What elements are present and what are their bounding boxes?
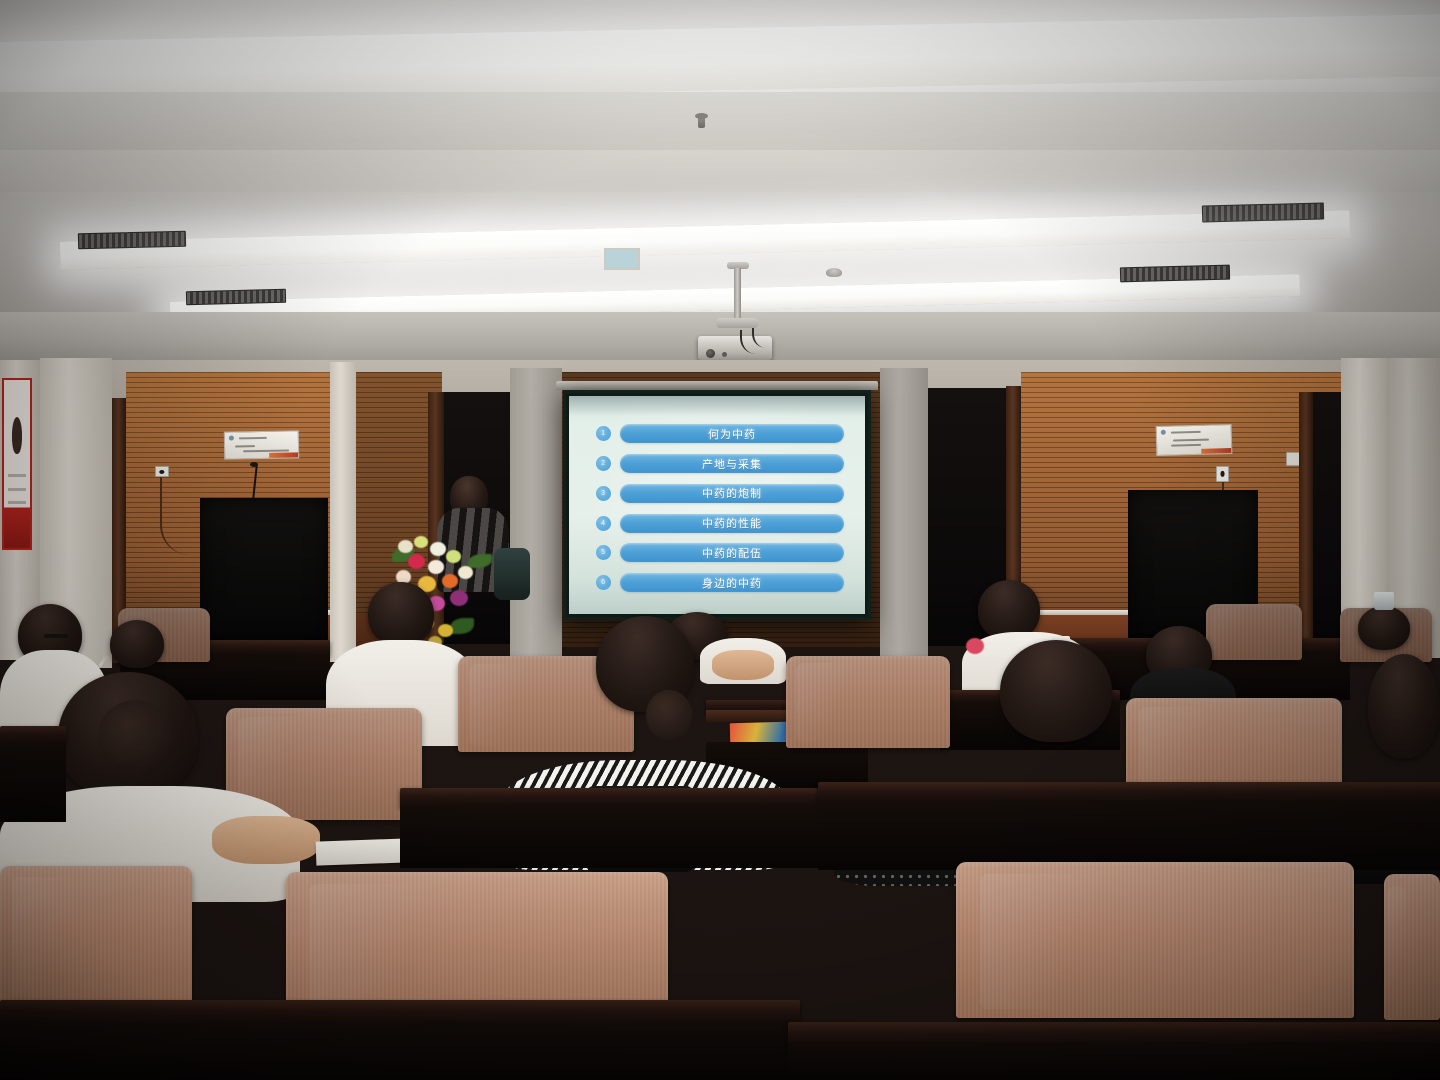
slide-item-label: 产地与采集 bbox=[620, 454, 845, 473]
audience-head-10 bbox=[1368, 654, 1440, 758]
audience-head-2 bbox=[110, 620, 164, 668]
projector-lens bbox=[706, 349, 715, 358]
slide-item: 5 中药的配伍 bbox=[596, 543, 845, 562]
power-cable-left bbox=[160, 477, 200, 555]
wall-outlet-right[interactable] bbox=[1216, 466, 1229, 482]
red-banner-poster bbox=[2, 378, 32, 550]
ceiling-speaker bbox=[826, 268, 842, 277]
slide-item-label: 身边的中药 bbox=[620, 573, 845, 592]
projector-bracket bbox=[716, 318, 758, 328]
projection-screen[interactable]: 1 何为中药 2 产地与采集 3 中药的炮制 4 中药的性能 5 中 bbox=[563, 390, 871, 620]
audience-arm-11 bbox=[212, 816, 320, 864]
desk-face-front-left bbox=[0, 1022, 800, 1080]
chair-row3-3[interactable] bbox=[786, 656, 950, 748]
slide-item-number: 6 bbox=[596, 575, 611, 590]
door-frame-right bbox=[1299, 392, 1313, 642]
chair-row1-3[interactable] bbox=[956, 862, 1354, 1018]
handout-paper[interactable] bbox=[316, 838, 409, 865]
slide-item-label: 中药的配伍 bbox=[620, 543, 845, 562]
chair-row1-4[interactable] bbox=[1384, 874, 1440, 1020]
wall-panel-left bbox=[200, 498, 328, 642]
slide-item: 3 中药的炮制 bbox=[596, 484, 845, 503]
notice-sign-right bbox=[1156, 424, 1233, 456]
slide-item-label: 何为中药 bbox=[620, 424, 845, 443]
desk-rail-row2-left bbox=[0, 726, 66, 746]
slide-item-number: 3 bbox=[596, 486, 611, 501]
slide-item-number: 5 bbox=[596, 545, 611, 560]
column-screen-left bbox=[510, 368, 562, 658]
audience-head-3 bbox=[368, 582, 434, 646]
ceiling-band-1 bbox=[0, 150, 1440, 192]
desk-face-front-right bbox=[788, 1042, 1440, 1080]
air-vent-right-2 bbox=[1120, 265, 1230, 283]
air-vent-left-2 bbox=[186, 289, 286, 305]
projector-mount-pole bbox=[734, 268, 741, 320]
audience-arm-4 bbox=[712, 650, 774, 680]
air-vent-left-1 bbox=[78, 231, 186, 250]
desk-face-row2-left bbox=[0, 744, 66, 822]
doorway-right[interactable] bbox=[1313, 392, 1341, 644]
slide-item: 4 中药的性能 bbox=[596, 514, 845, 533]
audience-head-7 bbox=[1358, 606, 1410, 650]
ceiling-soffit-1 bbox=[0, 92, 1440, 150]
eyeglasses-audience-1 bbox=[44, 634, 68, 638]
bottle-on-desk[interactable] bbox=[1374, 592, 1394, 610]
projector-control-knob[interactable] bbox=[722, 352, 727, 357]
wall-outlet-left[interactable] bbox=[155, 466, 169, 477]
slide-item-label: 中药的炮制 bbox=[620, 484, 845, 503]
slide-item-label: 中药的性能 bbox=[620, 514, 845, 533]
column-center-left bbox=[330, 362, 356, 662]
screen-roller-housing bbox=[556, 381, 878, 390]
audience-head-9 bbox=[1000, 640, 1112, 742]
ceiling-access-panel bbox=[604, 248, 640, 270]
lecture-hall-photo: 1 何为中药 2 产地与采集 3 中药的炮制 4 中药的性能 5 中 bbox=[0, 0, 1440, 1080]
audience-head-5 bbox=[978, 580, 1040, 640]
air-vent-right-1 bbox=[1202, 203, 1324, 223]
desk-face-row2-center bbox=[400, 806, 818, 868]
desk-face-row2-right bbox=[818, 800, 1440, 870]
slide-item: 2 产地与采集 bbox=[596, 454, 845, 473]
slide-item-number: 4 bbox=[596, 516, 611, 531]
slide-agenda-list: 1 何为中药 2 产地与采集 3 中药的炮制 4 中药的性能 5 中 bbox=[596, 424, 845, 592]
slide-item-number: 2 bbox=[596, 456, 611, 471]
sprinkler-head bbox=[698, 116, 705, 128]
audience-hair-bun-11 bbox=[98, 700, 172, 772]
notice-sign-left bbox=[224, 430, 299, 459]
desk-rail-row2-center bbox=[400, 788, 818, 808]
audience-hair-bun-8 bbox=[646, 690, 692, 740]
projection-screen-surface: 1 何为中药 2 产地与采集 3 中药的炮制 4 中药的性能 5 中 bbox=[569, 396, 865, 614]
slide-item-number: 1 bbox=[596, 426, 611, 441]
presenter-bag bbox=[494, 548, 530, 600]
slide-item: 1 何为中药 bbox=[596, 424, 845, 443]
chair-row4-2[interactable] bbox=[1206, 604, 1302, 660]
slide-item: 6 身边的中药 bbox=[596, 573, 845, 592]
microphone-head-left bbox=[250, 462, 258, 467]
decorative-flower bbox=[966, 638, 984, 654]
chair-row1-1[interactable] bbox=[0, 866, 192, 1006]
column-screen-right bbox=[880, 368, 928, 656]
